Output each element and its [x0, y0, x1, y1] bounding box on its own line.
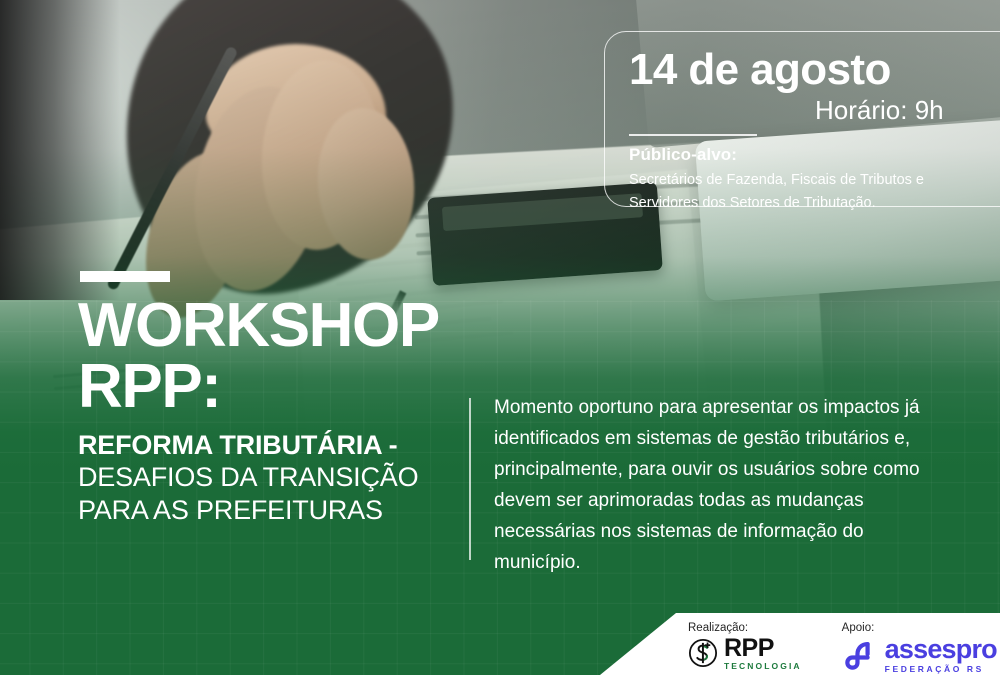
realizacao-label: Realização:: [688, 622, 802, 634]
rpp-wordmark: RPP TECNOLOGIA: [724, 636, 802, 671]
assespro-logo[interactable]: assespro FEDERAÇÃO RS: [842, 636, 997, 674]
subtitle-line-2: PARA AS PREFEITURAS: [78, 494, 478, 527]
audience-text: Secretários de Fazenda, Fiscais de Tribu…: [629, 169, 949, 216]
poster-root: 14 de agosto Horário: 9h Público-alvo: S…: [0, 0, 1000, 675]
event-time: Horário: 9h: [815, 97, 1000, 123]
title-line-1: WORKSHOP: [78, 296, 478, 357]
title-line-2: RPP:: [78, 357, 478, 418]
event-date-card: 14 de agosto Horário: 9h Público-alvo: S…: [604, 31, 1000, 207]
subtitle-bold: REFORMA TRIBUTÁRIA -: [78, 430, 478, 461]
date-divider: [629, 134, 757, 136]
assespro-name: assespro: [885, 636, 997, 663]
apoio-block: Apoio: assespro FEDERAÇÃO RS: [842, 622, 997, 674]
left-vignette: [0, 0, 120, 300]
assespro-tagline: FEDERAÇÃO RS: [885, 665, 997, 674]
rpp-name: RPP: [724, 636, 802, 661]
title-block: WORKSHOP RPP: REFORMA TRIBUTÁRIA - DESAF…: [78, 296, 478, 527]
rpp-logo[interactable]: RPP TECNOLOGIA: [688, 636, 802, 671]
footer: Realização: RPP TECNOLOGIA: [0, 613, 1000, 675]
assespro-mark-icon: [842, 639, 878, 671]
apoio-label: Apoio:: [842, 622, 997, 634]
assespro-wordmark: assespro FEDERAÇÃO RS: [885, 636, 997, 674]
rpp-dollar-circle-icon: [688, 638, 718, 668]
title-dash-rule: [80, 271, 170, 282]
rpp-tagline: TECNOLOGIA: [724, 662, 802, 671]
realizacao-block: Realização: RPP TECNOLOGIA: [688, 622, 802, 671]
body-paragraph: Momento oportuno para apresentar os impa…: [494, 393, 924, 579]
audience-label: Público-alvo:: [629, 145, 1000, 165]
footer-credits: Realização: RPP TECNOLOGIA: [600, 613, 1000, 675]
event-date: 14 de agosto: [629, 48, 1000, 92]
subtitle-line-1: DESAFIOS DA TRANSIÇÃO: [78, 461, 478, 494]
paragraph-divider: [469, 398, 471, 560]
